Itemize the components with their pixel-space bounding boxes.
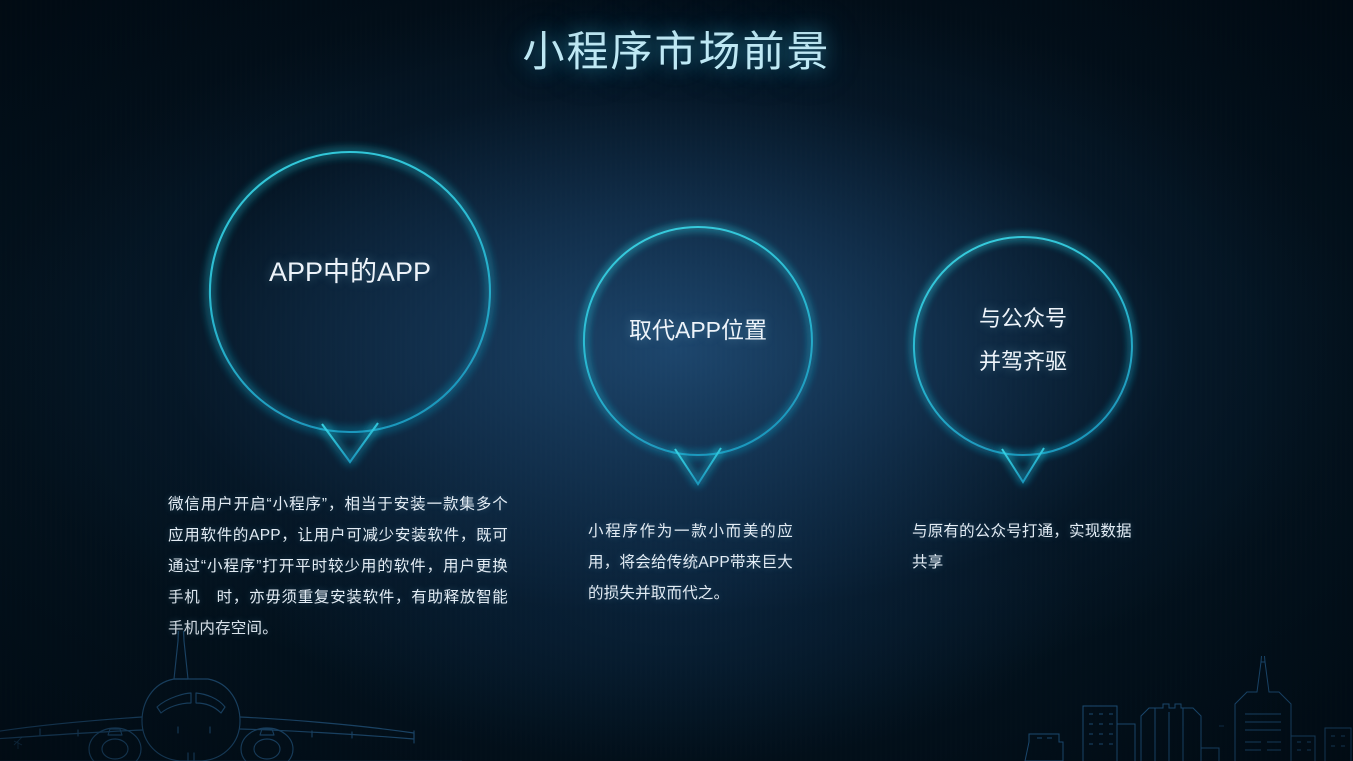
bubble-description-1: 微信用户开启“小程序”，相当于安装一款集多个应用软件的APP，让用户可减少安装软… — [168, 489, 508, 644]
slide-canvas: 小程序市场前景 APP中的APP — [0, 0, 1353, 761]
speech-bubble-official-account[interactable]: 与公众号 并驾齐驱 — [903, 226, 1143, 484]
speech-bubble-outline-icon — [573, 216, 823, 486]
speech-bubble-outline-icon — [198, 140, 502, 470]
page-title: 小程序市场前景 — [0, 18, 1353, 79]
speech-bubble-outline-icon — [903, 226, 1143, 484]
bubble-description-2: 小程序作为一款小而美的应用，将会给传统APP带来巨大的损失并取而代之。 — [588, 516, 793, 609]
airplane-icon — [0, 631, 462, 761]
city-skyline-icon — [1023, 656, 1353, 761]
bubble-description-3: 与原有的公众号打通，实现数据共享 — [912, 516, 1142, 578]
speech-bubble-app-in-app[interactable]: APP中的APP — [198, 140, 502, 470]
speech-bubble-replace-app[interactable]: 取代APP位置 — [573, 216, 823, 486]
